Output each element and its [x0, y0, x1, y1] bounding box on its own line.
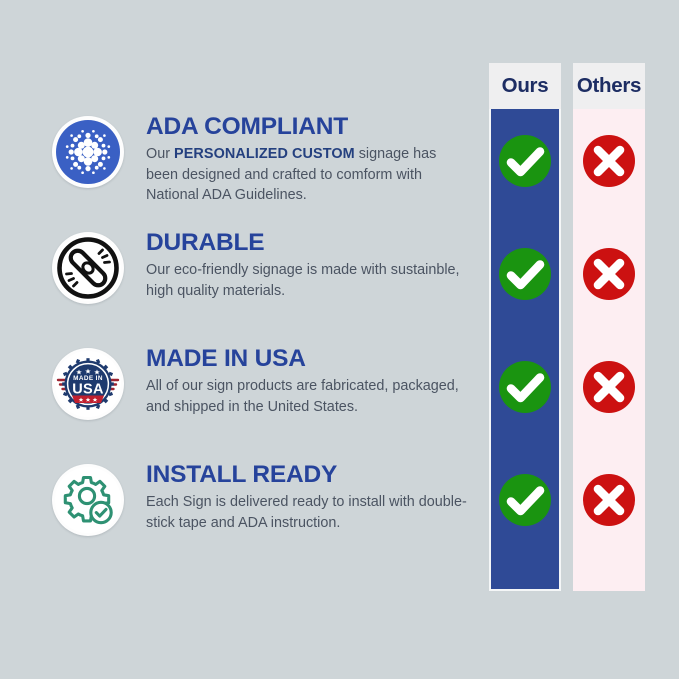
feature-row: MADE IN USA MADE IN USA All of our sign …: [52, 344, 472, 460]
feature-row: ADA COMPLIANT Our PERSONALIZED CUSTOM si…: [52, 112, 472, 228]
feature-title: ADA COMPLIANT: [146, 114, 472, 140]
infographic-root: ADA COMPLIANT Our PERSONALIZED CUSTOM si…: [0, 0, 679, 679]
x-circle-icon: [581, 472, 637, 528]
feature-row: INSTALL READY Each Sign is delivered rea…: [52, 460, 472, 576]
check-circle-icon: [497, 246, 553, 302]
x-circle-icon: [581, 359, 637, 415]
feature-title: INSTALL READY: [146, 462, 472, 488]
feature-description: Our PERSONALIZED CUSTOM signage has been…: [146, 144, 472, 205]
feature-description: Each Sign is delivered ready to install …: [146, 492, 472, 533]
gear-check-icon: [52, 464, 124, 536]
feature-list: ADA COMPLIANT Our PERSONALIZED CUSTOM si…: [52, 112, 472, 576]
feature-description: Our eco-friendly signage is made with su…: [146, 260, 472, 301]
check-circle-icon: [497, 472, 553, 528]
feature-description: All of our sign products are fabricated,…: [146, 376, 472, 417]
comparison-column-others: Others: [573, 63, 645, 591]
x-circle-icon: [581, 133, 637, 189]
feature-title: DURABLE: [146, 230, 472, 256]
made-in-usa-badge-icon: MADE IN USA: [52, 348, 124, 420]
check-circle-icon: [497, 359, 553, 415]
desc-emphasis: PERSONALIZED CUSTOM: [174, 146, 355, 162]
feature-text: ADA COMPLIANT Our PERSONALIZED CUSTOM si…: [146, 112, 472, 206]
column-header-others: Others: [573, 63, 645, 109]
column-body-others: [573, 109, 645, 591]
x-circle-icon: [581, 246, 637, 302]
comparison-column-ours: Ours: [489, 63, 561, 591]
feature-title: MADE IN USA: [146, 346, 472, 372]
check-circle-icon: [497, 133, 553, 189]
column-header-label: Others: [577, 74, 641, 98]
comparison-table: Ours: [489, 63, 649, 591]
feature-text: INSTALL READY Each Sign is delivered rea…: [146, 460, 472, 533]
column-body-ours: [489, 109, 561, 591]
feature-row: DURABLE Our eco-friendly signage is made…: [52, 228, 472, 344]
feature-text: DURABLE Our eco-friendly signage is made…: [146, 228, 472, 301]
usa-badge-main-text: USA: [72, 382, 104, 398]
desc-segment: Our: [146, 146, 174, 162]
ada-dots-icon: [52, 116, 124, 188]
column-header-ours: Ours: [489, 63, 561, 109]
unbreakable-link-icon: [52, 232, 124, 304]
feature-text: MADE IN USA All of our sign products are…: [146, 344, 472, 417]
column-header-label: Ours: [502, 74, 549, 98]
